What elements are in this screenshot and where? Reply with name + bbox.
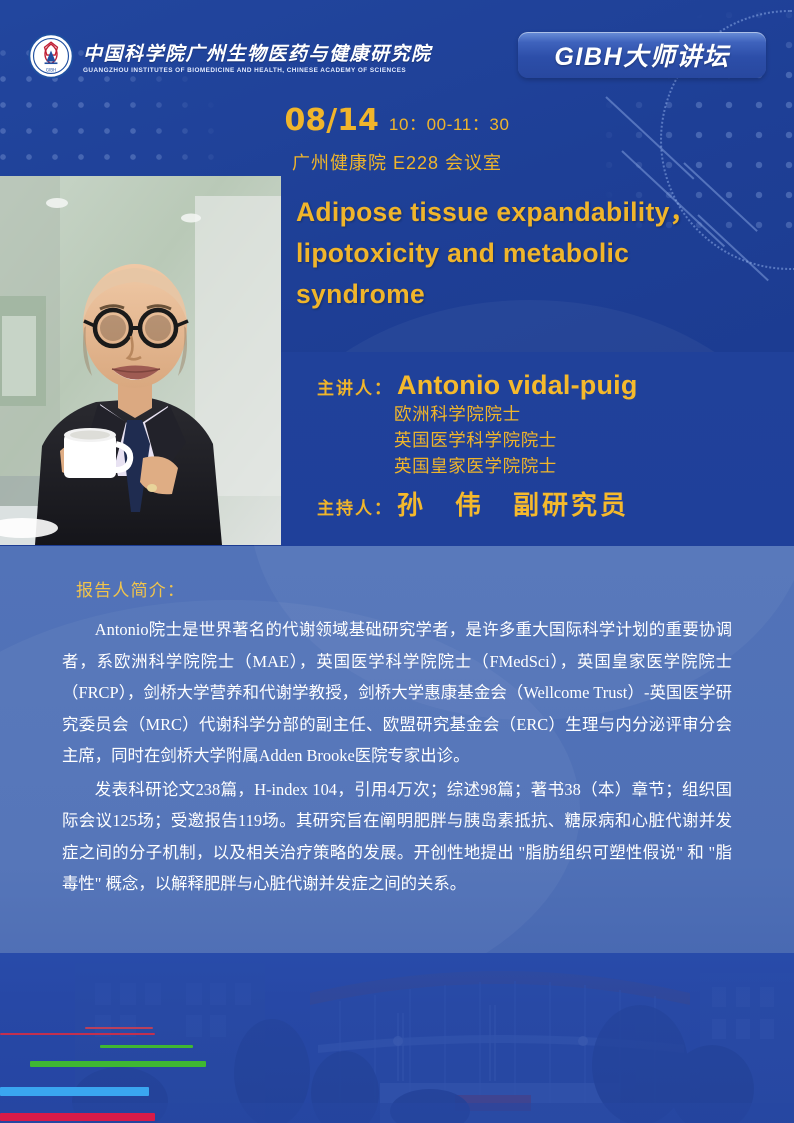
event-date: 08/14 — [284, 103, 378, 138]
speaker-info-panel: 主讲人： Antonio vidal-puig 欧洲科学院院士 英国医学科学院院… — [281, 352, 794, 546]
bio-body: Antonio院士是世界著名的代谢领域基础研究学者，是许多重大国际科学计划的重要… — [62, 614, 732, 902]
accent-bar-green-thick — [30, 1061, 206, 1067]
speaker-portrait-photo — [0, 176, 281, 545]
speaker-credential-1: 欧洲科学院院士 — [281, 401, 794, 427]
talk-title: Adipose tissue expandability， lipotoxici… — [296, 192, 766, 315]
accent-bar-crimson-thick — [0, 1113, 155, 1121]
poster-header: GIBH 中国科学院广州生物医药与健康研究院 GUANGZHOU INSTITU… — [0, 0, 794, 100]
talk-title-line-2: lipotoxicity and metabolic — [296, 233, 766, 274]
event-venue: 广州健康院 E228 会议室 — [0, 149, 794, 175]
talk-title-line-1: Adipose tissue expandability， — [296, 192, 766, 233]
speaker-label: 主讲人： — [317, 374, 393, 399]
event-datebar: 08/14 10：00-11：30 广州健康院 E228 会议室 — [0, 103, 794, 175]
event-date-row: 08/14 10：00-11：30 — [0, 103, 794, 138]
speaker-credential-2: 英国医学科学院院士 — [281, 427, 794, 453]
talk-title-line-3: syndrome — [296, 274, 766, 315]
accent-bars — [0, 1033, 340, 1123]
host-row: 主持人： 孙 伟 副研究员 — [281, 479, 794, 522]
speaker-name-row: 主讲人： Antonio vidal-puig — [281, 352, 794, 401]
poster-root: GIBH 中国科学院广州生物医药与健康研究院 GUANGZHOU INSTITU… — [0, 0, 794, 1123]
host-label: 主持人： — [317, 494, 393, 519]
gibh-emblem-icon: GIBH — [28, 33, 74, 79]
bio-heading: 报告人简介： — [76, 576, 185, 601]
forum-badge: GIBH大师讲坛 — [518, 32, 766, 78]
speaker-name: Antonio vidal-puig — [397, 370, 638, 401]
accent-bar-lightblue-thick — [0, 1087, 149, 1096]
accent-bar-crimson-thin-2 — [85, 1027, 153, 1029]
svg-text:GIBH: GIBH — [46, 68, 56, 73]
host-name: 孙 伟 副研究员 — [397, 485, 629, 522]
institute-name-en: GUANGZHOU INSTITUTES OF BIOMEDICINE AND … — [83, 67, 432, 74]
accent-bar-green-thin — [100, 1045, 193, 1048]
speaker-credential-3: 英国皇家医学院院士 — [281, 453, 794, 479]
accent-bar-crimson-thin — [0, 1033, 155, 1035]
bio-paragraph-2: 发表科研论文238篇，H-index 104，引用4万次；综述98篇；著书38（… — [62, 774, 732, 900]
institute-logo: GIBH 中国科学院广州生物医药与健康研究院 GUANGZHOU INSTITU… — [28, 33, 432, 79]
institute-name-cn: 中国科学院广州生物医药与健康研究院 — [83, 39, 432, 66]
event-time: 10：00-11：30 — [389, 110, 510, 135]
forum-badge-label: GIBH大师讲坛 — [554, 37, 729, 73]
bio-paragraph-1: Antonio院士是世界著名的代谢领域基础研究学者，是许多重大国际科学计划的重要… — [62, 614, 732, 772]
